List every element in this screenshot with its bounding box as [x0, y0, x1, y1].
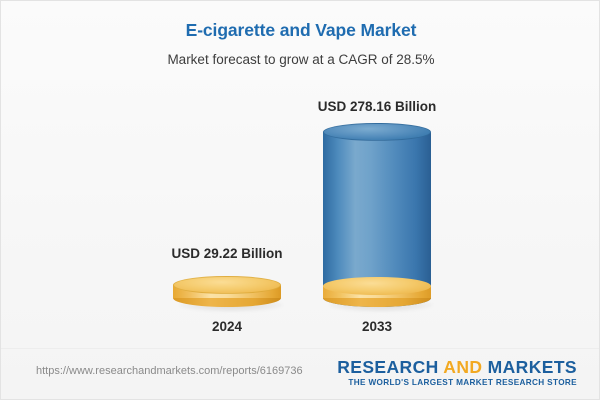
data-label-2033: USD 278.16 Billion: [264, 99, 490, 114]
logo-tagline: THE WORLD'S LARGEST MARKET RESEARCH STOR…: [337, 378, 577, 387]
bar-2033-body: [323, 132, 431, 298]
page-subtitle: Market forecast to grow at a CAGR of 28.…: [1, 52, 600, 67]
category-label-2033: 2033: [297, 319, 457, 334]
category-label-2024: 2024: [147, 319, 307, 334]
bar-2024-cylinder[interactable]: [173, 276, 281, 307]
research-and-markets-logo[interactable]: RESEARCH AND MARKETS THE WORLD'S LARGEST…: [337, 358, 577, 387]
chart-canvas: E-cigarette and Vape Market Market forec…: [0, 0, 600, 400]
bar-2033-baseline-top-ellipse: [323, 277, 431, 295]
bar-2033-baseline-segment: [323, 277, 431, 307]
page-title: E-cigarette and Vape Market: [1, 20, 600, 41]
footer-divider: [1, 348, 600, 349]
logo-word-research: RESEARCH: [337, 357, 438, 377]
source-url[interactable]: https://www.researchandmarkets.com/repor…: [36, 365, 303, 377]
data-label-2024: USD 29.22 Billion: [114, 246, 340, 261]
bar-2033-cylinder[interactable]: [323, 123, 431, 307]
logo-word-markets: MARKETS: [488, 357, 577, 377]
logo-word-and: AND: [443, 357, 482, 377]
bar-2024-top-ellipse: [173, 276, 281, 294]
bar-2033-top-ellipse: [323, 123, 431, 141]
logo-wordmark: RESEARCH AND MARKETS: [337, 358, 577, 376]
